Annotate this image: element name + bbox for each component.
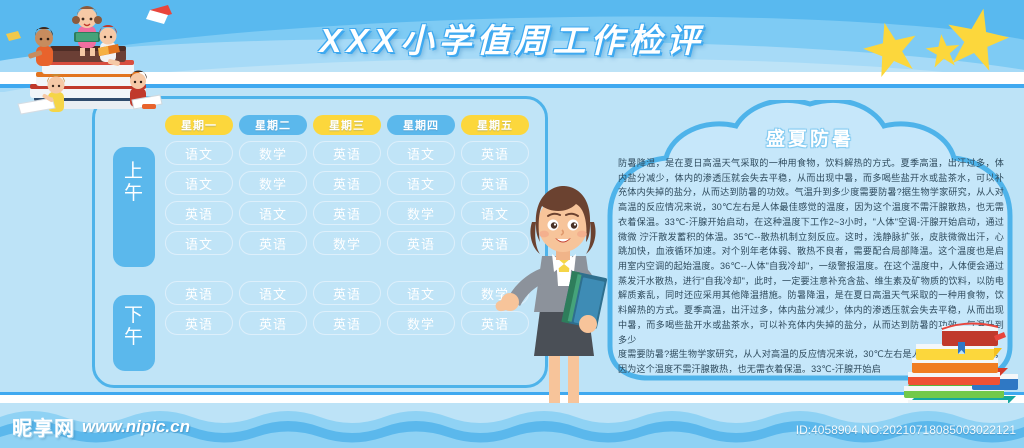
schedule-cell[interactable]: 语文 (239, 201, 307, 225)
schedule-cell[interactable]: 英语 (313, 171, 381, 195)
weekday-header-fri[interactable]: 星期五 (461, 115, 529, 135)
schedule-cell[interactable]: 英语 (165, 311, 233, 335)
period-label-afternoon: 下 午 (113, 295, 155, 371)
weekday-header-row: 星期一 星期二 星期三 星期四 星期五 (165, 115, 537, 135)
teacher-illustration (492, 182, 632, 420)
watermark-url: www.nipic.cn (82, 417, 190, 437)
period-afternoon-char1: 下 (124, 305, 144, 326)
schedule-cell[interactable]: 数学 (313, 231, 381, 255)
poster-canvas: XXX小学值周工作检评 (0, 0, 1024, 448)
period-label-morning: 上 午 (113, 147, 155, 267)
schedule-cell[interactable]: 英语 (239, 311, 307, 335)
schedule-cell[interactable]: 语文 (387, 281, 455, 305)
schedule-cell[interactable]: 数学 (239, 141, 307, 165)
schedule-cell[interactable]: 数学 (387, 311, 455, 335)
schedule-cell[interactable]: 语文 (387, 141, 455, 165)
schedule-cell[interactable]: 英语 (387, 231, 455, 255)
schedule-cell[interactable]: 英语 (313, 311, 381, 335)
schedule-cell[interactable]: 语文 (387, 171, 455, 195)
watermark-logo: 昵享网 (12, 412, 75, 441)
schedule-row-am-1: 语文 数学 英语 语文 英语 (165, 141, 537, 165)
schedule-cell[interactable]: 英语 (461, 141, 529, 165)
schedule-panel: 上 午 下 午 星期一 星期二 星期三 星期四 星期五 语文 数学 英语 语文 … (92, 96, 548, 388)
schedule-row-pm-1: 英语 语文 英语 语文 数学 (165, 281, 537, 305)
schedule-row-am-3: 英语 语文 英语 数学 语文 (165, 201, 537, 225)
weekday-header-thu[interactable]: 星期四 (387, 115, 455, 135)
schedule-cell[interactable]: 语文 (239, 281, 307, 305)
period-morning-char2: 午 (124, 183, 144, 204)
schedule-cell[interactable]: 语文 (165, 171, 233, 195)
page-title: XXX小学值周工作检评 (0, 14, 1024, 62)
watermark-id-text: ID:4058904 NO:20210718085003022121 (796, 423, 1016, 437)
period-morning-char1: 上 (124, 161, 144, 182)
schedule-cell[interactable]: 英语 (313, 201, 381, 225)
schedule-cell[interactable]: 数学 (387, 201, 455, 225)
schedule-row-am-4: 语文 英语 数学 英语 英语 (165, 231, 537, 255)
schedule-cell[interactable]: 英语 (165, 201, 233, 225)
schedule-grid: 星期一 星期二 星期三 星期四 星期五 语文 数学 英语 语文 英语 语文 数学… (165, 115, 537, 335)
article-title: 盛夏防暑 (604, 124, 1016, 151)
schedule-cell[interactable]: 英语 (313, 141, 381, 165)
watermark: 昵享网 www.nipic.cn (12, 412, 190, 441)
schedule-cell[interactable]: 语文 (165, 141, 233, 165)
schedule-cell[interactable]: 数学 (239, 171, 307, 195)
schedule-cell[interactable]: 英语 (165, 281, 233, 305)
schedule-row-pm-2: 英语 英语 英语 数学 英语 (165, 311, 537, 335)
weekday-header-tue[interactable]: 星期二 (239, 115, 307, 135)
schedule-cell[interactable]: 英语 (239, 231, 307, 255)
weekday-header-wed[interactable]: 星期三 (313, 115, 381, 135)
period-afternoon-char2: 午 (124, 327, 144, 348)
schedule-cell[interactable]: 英语 (313, 281, 381, 305)
schedule-row-am-2: 语文 数学 英语 语文 英语 (165, 171, 537, 195)
schedule-cell[interactable]: 语文 (165, 231, 233, 255)
